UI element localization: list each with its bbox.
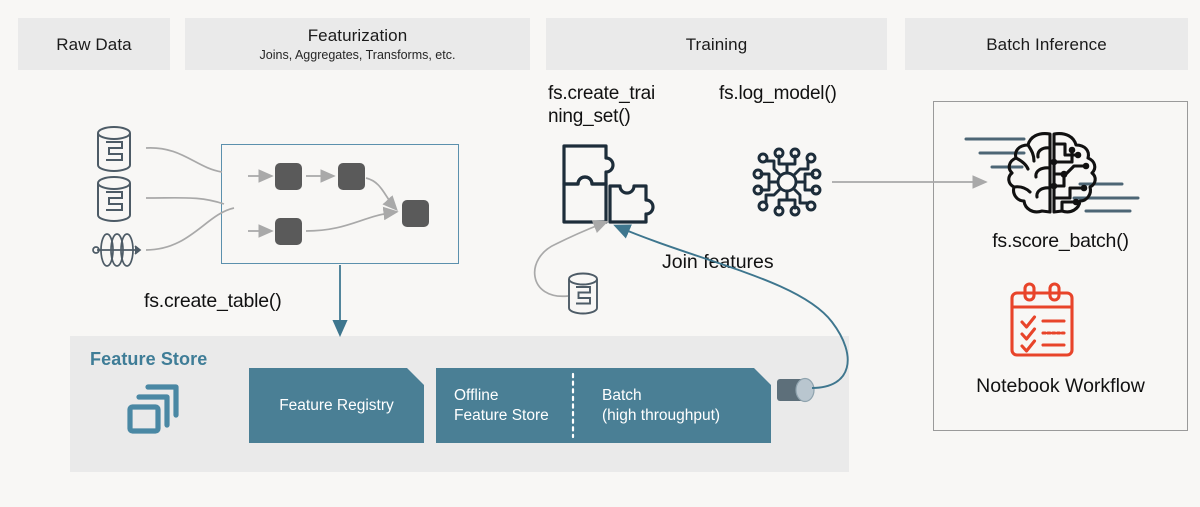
connector-overlay [0,0,1200,507]
diagram-canvas: Raw Data Featurization Joins, Aggregates… [0,0,1200,507]
